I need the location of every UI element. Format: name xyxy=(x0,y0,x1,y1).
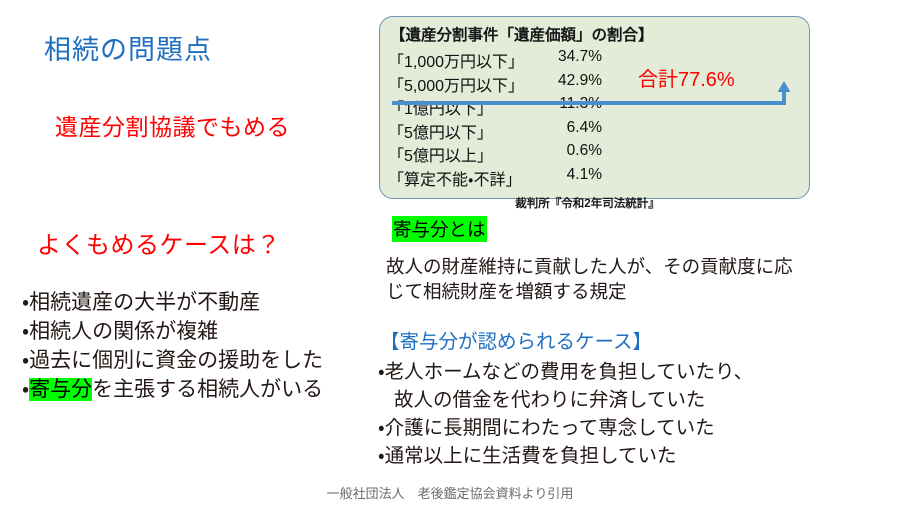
list-item-label: を主張する相続人がいる xyxy=(92,378,323,401)
table-row: 「1億円以下」 11.3% xyxy=(388,95,602,119)
list-item-highlighted: ・寄与分を主張する相続人がいる xyxy=(22,375,323,404)
table-row: 「5,000万円以下」 42.9% xyxy=(388,72,602,96)
row-value: 4.1% xyxy=(567,166,602,184)
list-item: ・相続人の関係が複雑 xyxy=(22,317,323,346)
list-item: ・老人ホームなどの費用を負担していたり、 xyxy=(378,358,753,386)
row-value: 6.4% xyxy=(567,119,602,137)
kiyobun-definition: 故人の財産維持に貢献した人が、その貢献度に応 じて相続財産を増額する規定 xyxy=(386,254,886,304)
definition-line: じて相続財産を増額する規定 xyxy=(386,279,886,304)
statistics-box: 【遺産分割事件「遺産価額」の割合】 「1,000万円以下」 34.7% 「5,0… xyxy=(379,16,810,199)
row-value: 42.9% xyxy=(558,72,602,90)
row-label: 「算定不能・不詳」 xyxy=(388,166,521,190)
table-row: 「算定不能・不詳」 4.1% xyxy=(388,166,602,190)
footer-attribution: 一般社団法人 老後鑑定協会資料より引用 xyxy=(0,483,900,502)
row-label: 「5億円以上」 xyxy=(388,142,493,166)
table-row: 「5億円以上」 0.6% xyxy=(388,142,602,166)
cases-heading: 【寄与分が認められるケース】 xyxy=(380,325,652,354)
total-annotation: 合計77.6% xyxy=(638,63,735,92)
statistics-heading: 【遺産分割事件「遺産価額」の割合】 xyxy=(390,23,654,45)
list-item-continuation: 故人の借金を代わりに弁済していた xyxy=(378,386,753,414)
slide-canvas: 相続の問題点 遺産分割協議でもめる よくもめるケースは？ ・相続遺産の大半が不動… xyxy=(0,0,900,506)
table-row: 「1,000万円以下」 34.7% xyxy=(388,48,602,72)
left-bullet-list: ・相続遺産の大半が不動産 ・相続人の関係が複雑 ・過去に個別に資金の援助をした … xyxy=(22,288,323,404)
row-label: 「1,000万円以下」 xyxy=(388,48,524,72)
statistics-rows: 「1,000万円以下」 34.7% 「5,000万円以下」 42.9% 「1億円… xyxy=(388,48,602,189)
list-item: ・介護に長期間にわたって専念していた xyxy=(378,414,753,442)
row-label: 「5,000万円以下」 xyxy=(388,72,524,96)
red-heading-dispute: 遺産分割協議でもめる xyxy=(55,108,290,142)
row-label: 「5億円以下」 xyxy=(388,119,493,143)
page-title: 相続の問題点 xyxy=(44,28,212,67)
list-item: ・通常以上に生活費を負担していた xyxy=(378,442,753,470)
source-citation: 裁判所『令和2年司法統計』 xyxy=(380,195,795,211)
definition-line: 故人の財産維持に貢献した人が、その貢献度に応 xyxy=(386,254,886,279)
row-value: 11.3% xyxy=(559,95,602,113)
row-value: 34.7% xyxy=(558,48,602,66)
row-value: 0.6% xyxy=(567,142,602,160)
kiyobun-section-title: 寄与分とは xyxy=(392,216,487,242)
cases-bullet-list: ・老人ホームなどの費用を負担していたり、 故人の借金を代わりに弁済していた ・介… xyxy=(378,358,753,470)
red-heading-common-cases: よくもめるケースは？ xyxy=(37,225,281,260)
row-label: 「1億円以下」 xyxy=(388,95,493,119)
list-item: ・相続遺産の大半が不動産 xyxy=(22,288,323,317)
list-item: ・過去に個別に資金の援助をした xyxy=(22,346,323,375)
highlight-kiyobun: 寄与分 xyxy=(29,378,92,401)
table-row: 「5億円以下」 6.4% xyxy=(388,119,602,143)
